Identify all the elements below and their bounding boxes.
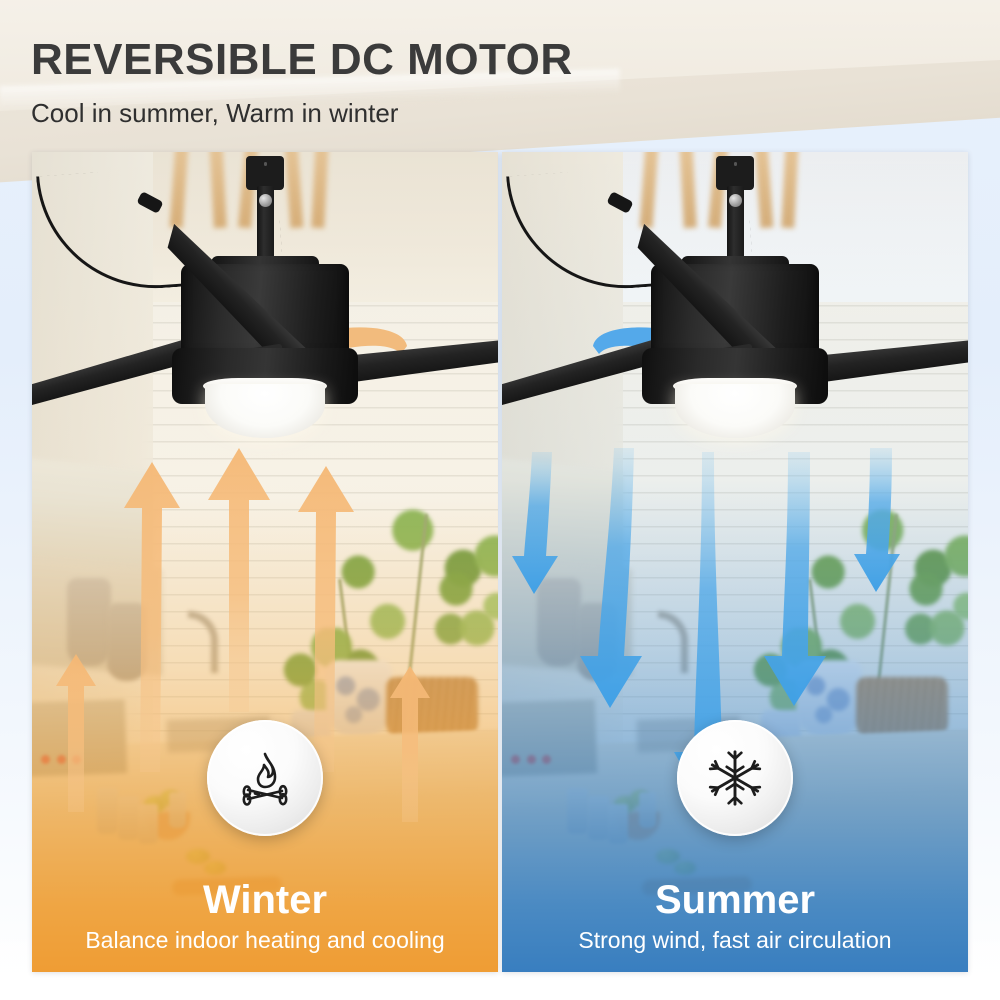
summer-caption: Summer Strong wind, fast air circulation: [502, 879, 968, 972]
airflow-down-arrow-icon: [502, 152, 968, 972]
panel-winter: Winter Balance indoor heating and coolin…: [32, 152, 498, 972]
snowflake-icon: [704, 747, 766, 809]
summer-title: Summer: [502, 879, 968, 921]
page-title: REVERSIBLE DC MOTOR: [31, 35, 573, 85]
winter-caption: Winter Balance indoor heating and coolin…: [32, 879, 498, 972]
winter-title: Winter: [32, 879, 498, 921]
airflow-down-group: [502, 152, 968, 972]
campfire-icon: [233, 746, 297, 810]
summer-description: Strong wind, fast air circulation: [502, 927, 968, 954]
winter-badge: [207, 720, 323, 836]
summer-badge: [677, 720, 793, 836]
airflow-up-group: [32, 152, 498, 972]
airflow-up-arrow-icon: [32, 152, 498, 972]
page-subtitle: Cool in summer, Warm in winter: [31, 98, 398, 129]
winter-description: Balance indoor heating and cooling: [32, 927, 498, 954]
panel-summer: Summer Strong wind, fast air circulation: [502, 152, 968, 972]
